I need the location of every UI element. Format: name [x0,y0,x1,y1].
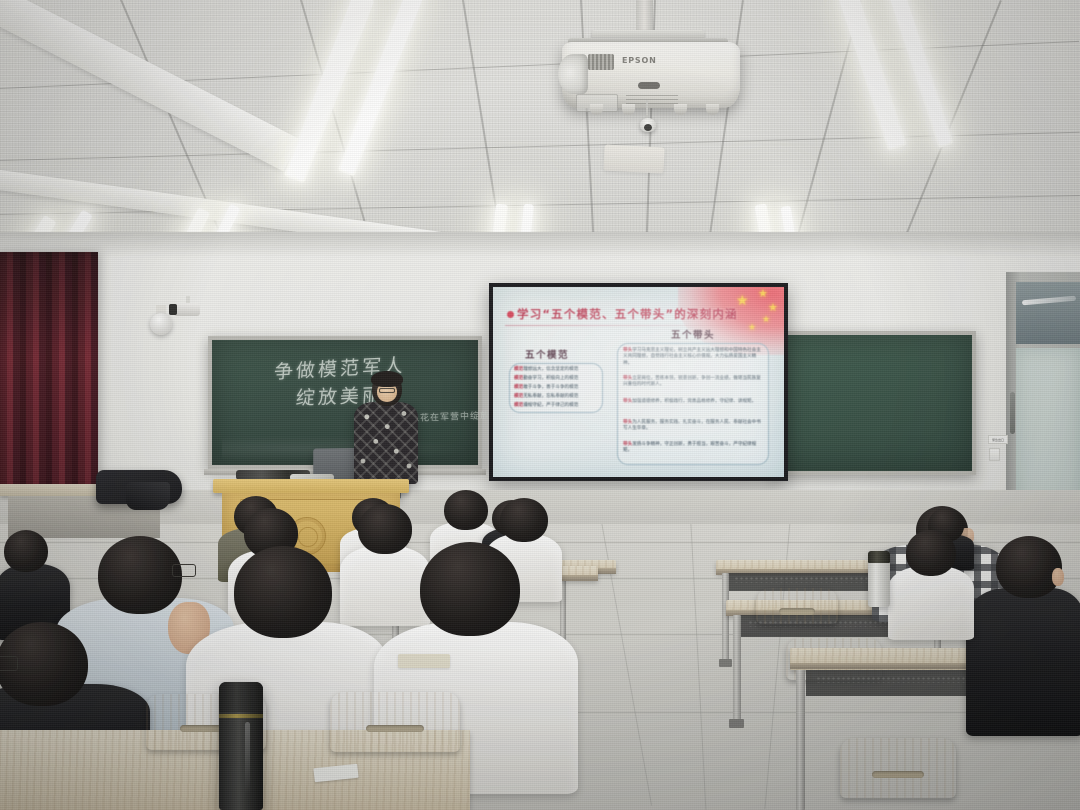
desk-leg [722,573,729,661]
blackboard-right [770,331,976,475]
student-ear [1052,568,1064,586]
chair [840,738,956,798]
student [888,530,974,640]
bullet-camera-icon [174,303,200,316]
desk-foot [719,659,732,667]
projector-foot [590,104,603,115]
projection-blur-overlay [493,287,784,477]
projector-vent [588,54,614,70]
projector-slot [638,82,660,89]
projector-foot [706,104,719,115]
desk-foot [729,719,744,728]
bottle-cap [868,551,890,563]
camera-cable [646,100,648,120]
thermos-bottle[interactable] [219,682,263,810]
desk-leg [733,615,741,721]
presenter-hair [371,371,403,387]
ceiling-camera-icon [640,118,656,132]
projector-lens [558,54,588,94]
student-head [420,542,520,636]
dome-camera-icon [150,313,172,335]
student-glasses [0,656,18,671]
presenter-glasses [379,388,395,393]
thermos-ring [219,714,263,718]
projector-brand-label: EPSON [622,56,657,65]
chair [756,588,838,624]
water-bottle[interactable] [868,551,890,607]
student-shirt [966,588,1080,736]
student-head [98,536,182,614]
podium-top [213,479,409,493]
thermos-cap [219,682,263,712]
classroom-photo: EPSON 争做模范军人 绽放美丽 青春之花在军营中绽放 [0,0,1080,810]
shirt-print-patch [398,654,450,668]
desk-leg [796,670,805,810]
student-head [234,546,332,638]
student-head [500,498,548,542]
chair [330,692,460,752]
projector-spec-text [626,92,678,104]
student-shirt [888,566,974,640]
wall-sign: 紧急出口 [988,435,1008,444]
equipment-case-secondary [126,482,170,510]
projector-mount [636,0,653,32]
door-handle[interactable] [1010,392,1015,434]
projector-foot [674,104,687,115]
student-far-right [966,536,1080,736]
projection-screen: ★ ★ ★ ★ ★ 学习“五个模范、五个带头”的深刻内涵 五个模范 五个带头 模… [489,283,788,481]
thermos-highlight [245,722,250,794]
projector-foot [622,104,635,115]
student-head [906,530,956,576]
ceiling: EPSON [0,0,1080,268]
floor-seam [690,516,706,810]
ceiling-light-housing [603,144,664,173]
wall-ceiling-shadow [0,232,1080,258]
projector-body: EPSON [562,42,740,108]
projector: EPSON [556,12,746,120]
student-head [996,536,1062,598]
presenter-blouse [354,402,418,484]
slide-surface: ★ ★ ★ ★ ★ 学习“五个模范、五个带头”的深刻内涵 五个模范 五个带头 模… [493,287,784,477]
light-switch[interactable] [989,448,1000,461]
student-head [4,530,48,572]
door-transom-window [1016,282,1080,344]
presenter [352,372,418,484]
